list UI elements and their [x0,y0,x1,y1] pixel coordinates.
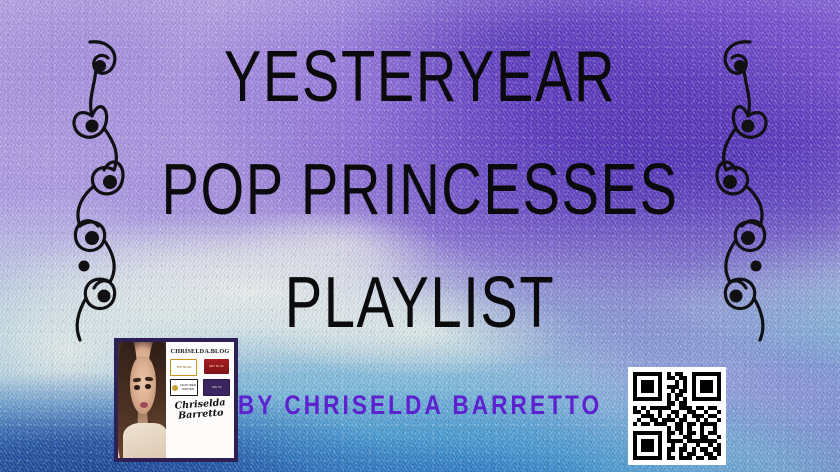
author-logo-card-inner: CHRISELDA.BLOG TOP BLOG ART IS US FEATUR… [118,342,234,458]
qr-code[interactable] [628,367,726,465]
portrait-brow-right [145,376,153,381]
blog-brand-name: CHRISELDA.BLOG [171,348,230,355]
flourish-right-icon [696,30,792,350]
author-signature: Chriselda Barretto [174,398,226,421]
poster-canvas: YESTERYEAR POP PRINCESSES PLAYLIST BY CH… [0,0,840,472]
portrait-lips [140,402,148,408]
flourish-left-icon [48,30,144,350]
author-logo-card[interactable]: CHRISELDA.BLOG TOP BLOG ART IS US FEATUR… [114,338,238,462]
signature-last-name: Barretto [175,408,226,421]
author-logo-body: CHRISELDA.BLOG TOP BLOG ART IS US FEATUR… [166,342,234,458]
qr-code-modules [633,372,721,460]
badge-gold-award-icon: TOP BLOG [170,359,197,376]
badge-dark-award-label: FEATURED WRITER [179,384,197,390]
portrait-eye-left [134,385,140,390]
badge-dark-seal-icon [172,385,178,391]
portrait-clothing [123,423,166,458]
award-badge-grid: TOP BLOG ART IS US FEATURED WRITER THE 5… [169,359,231,396]
badge-red-award-icon: ART IS US [204,359,229,374]
author-portrait-photo [118,342,166,458]
badge-dark-award-icon: FEATURED WRITER [170,379,198,396]
badge-purple-award-icon: THE 50 [203,379,230,396]
